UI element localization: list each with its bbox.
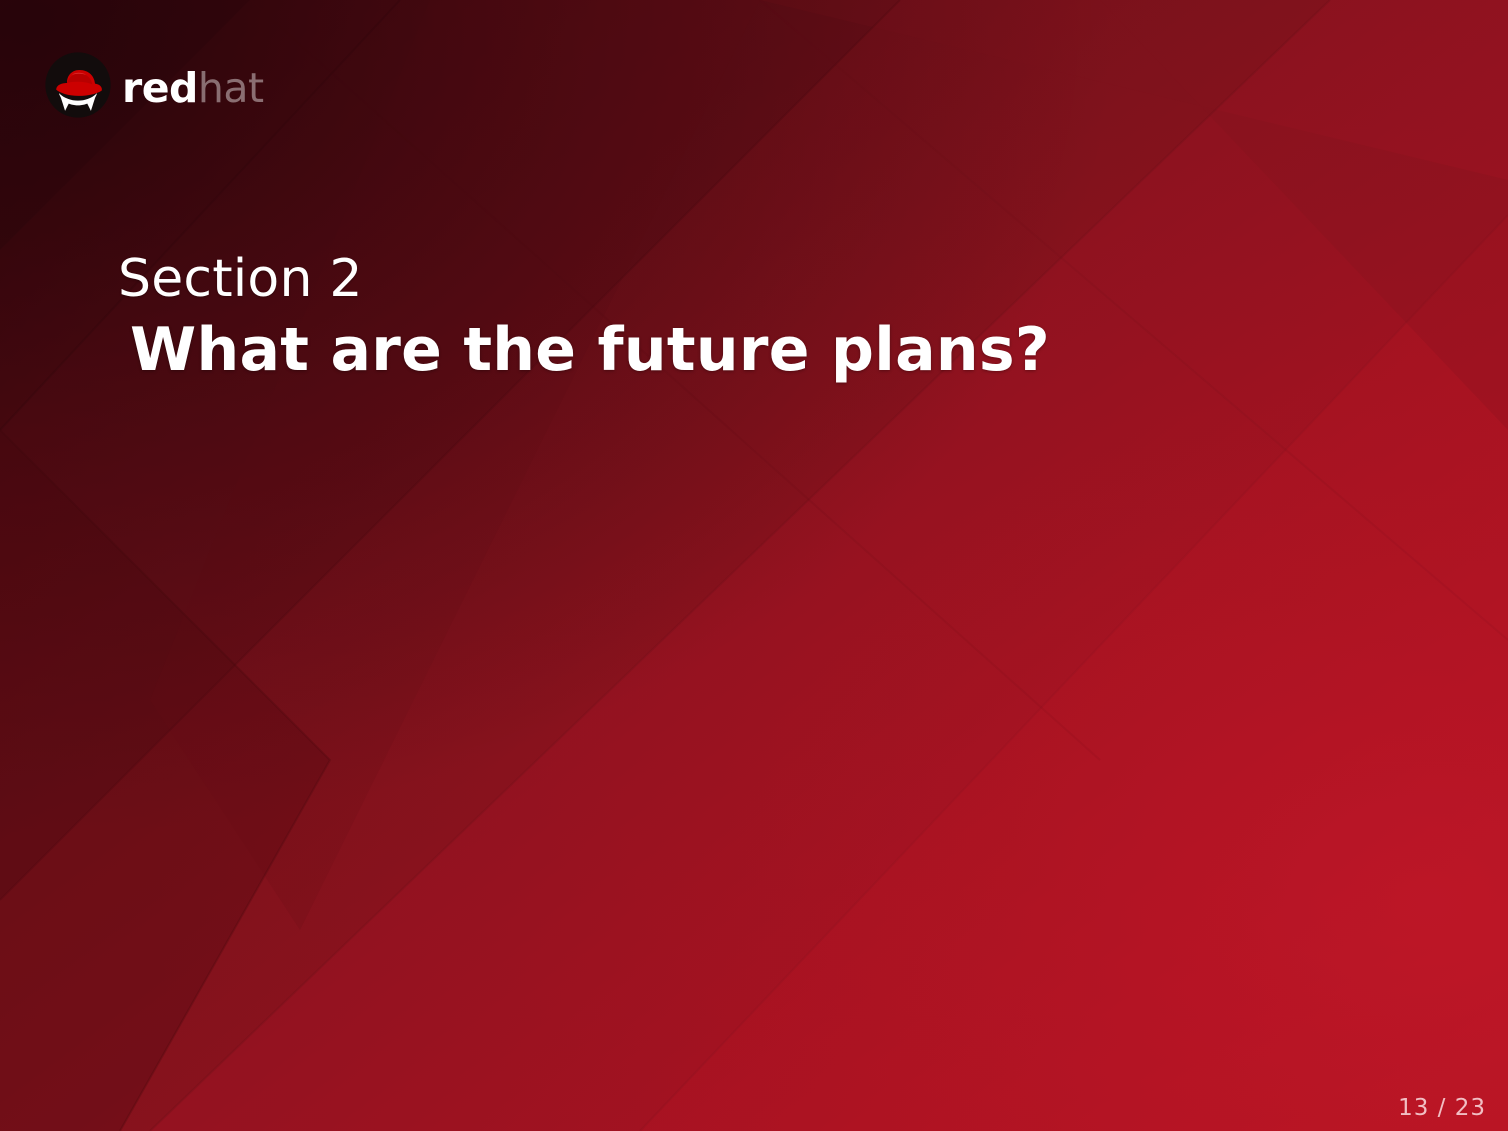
redhat-logo: redhat xyxy=(44,50,264,120)
section-title: What are the future plans? xyxy=(130,319,1050,383)
wordmark-red: red xyxy=(122,64,198,112)
title-block: Section 2 What are the future plans? xyxy=(118,252,1050,383)
section-subtitle: Section 2 xyxy=(118,252,1050,307)
wordmark-hat: hat xyxy=(198,64,264,112)
redhat-wordmark: redhat xyxy=(122,68,264,109)
redhat-shadowman-icon xyxy=(44,51,112,119)
background-shade xyxy=(0,0,1508,1131)
background-artwork xyxy=(0,0,1508,1131)
slide-root: redhat Section 2 What are the future pla… xyxy=(0,0,1508,1131)
page-number: 13 / 23 xyxy=(1398,1095,1486,1121)
background-svg xyxy=(0,0,1508,1131)
